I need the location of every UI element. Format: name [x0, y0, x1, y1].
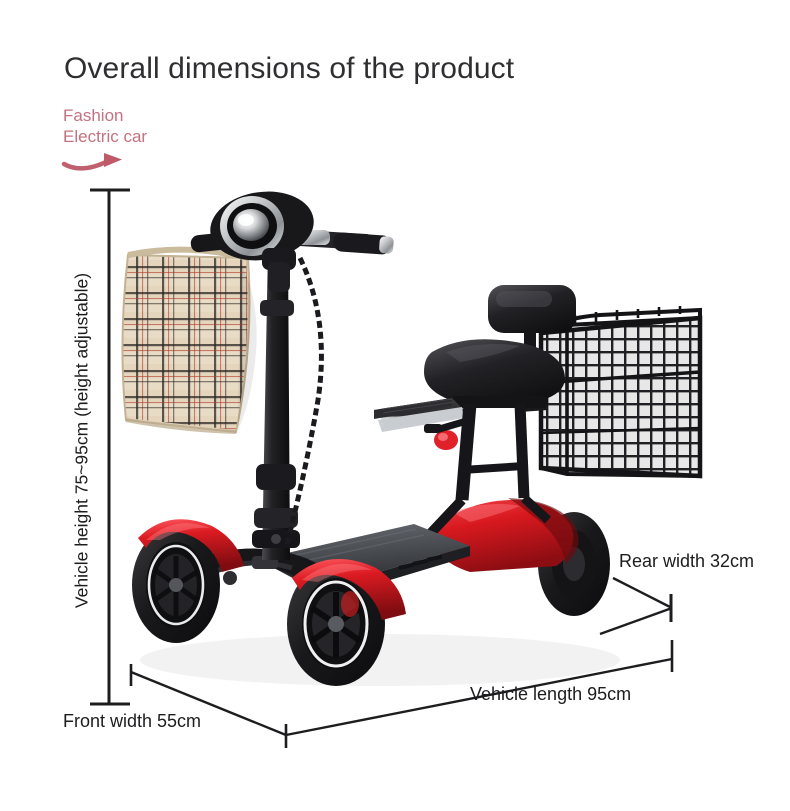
product-illustration [0, 0, 790, 811]
product-dimension-diagram: Overall dimensions of the product Fashio… [0, 0, 790, 811]
vehicle-height-label: Vehicle height 75~95cm (height adjustabl… [72, 191, 93, 691]
front-plaid-basket [110, 245, 270, 445]
vehicle-length-label: Vehicle length 95cm [470, 684, 631, 705]
front-width-label: Front width 55cm [63, 711, 201, 732]
rear-width-label: Rear width 32cm [619, 551, 754, 572]
steering-column [252, 248, 300, 560]
